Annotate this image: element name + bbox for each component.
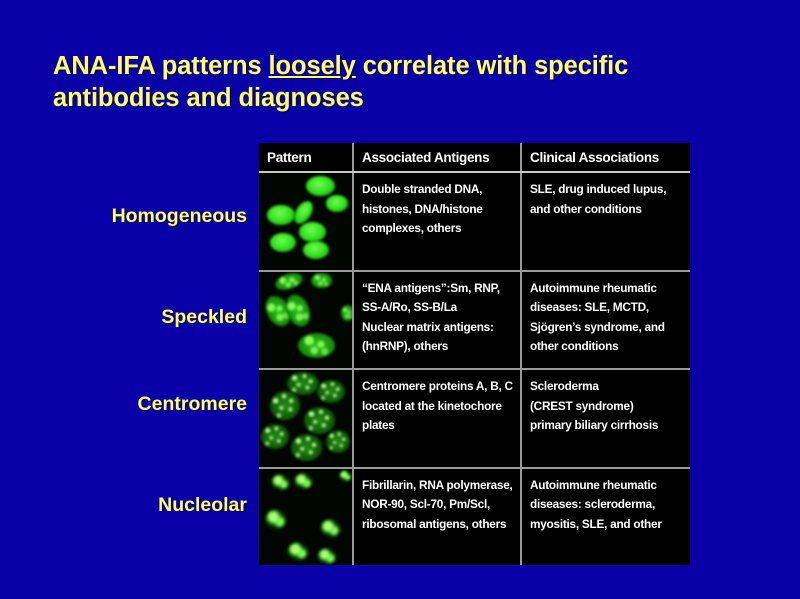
column-header-pattern: Pattern [259, 143, 352, 171]
table-header-row: Pattern Associated Antigens Clinical Ass… [259, 143, 690, 173]
clinical-cell: Autoimmune rheumatic diseases: scleroder… [520, 469, 690, 566]
speckled-pattern-image [259, 272, 352, 369]
cell-nucleus [320, 519, 340, 538]
cell-nucleus [261, 424, 289, 449]
antigens-cell: Double stranded DNA, histones, DNA/histo… [352, 173, 520, 270]
micrograph-centromere [259, 370, 352, 467]
antigens-cell: “ENA antigens”:Sm, RNP, SS-A/Ro, SS-B/La… [352, 272, 520, 369]
antigens-cell: Centromere proteins A, B, C located at t… [352, 370, 520, 467]
column-header-clinical-associations: Clinical Associations [520, 143, 690, 171]
micrograph-homogeneous [259, 173, 352, 270]
cell-nucleus [311, 273, 331, 287]
cell-nucleus [294, 473, 313, 489]
page-title: ANA-IFA patterns loosely correlate with … [53, 50, 753, 114]
centromere-pattern-image [259, 370, 352, 467]
cell-nucleus [271, 474, 290, 490]
table-row: Fibrillarin, RNA polymerase, NOR-90, Scl… [259, 469, 690, 566]
micrograph-speckled [259, 272, 352, 369]
cell-nucleus [326, 195, 348, 211]
cell-nucleus [326, 430, 350, 453]
clinical-cell: Scleroderma (CREST syndrome) primary bil… [520, 370, 690, 467]
title-emphasis-loosely: loosely [269, 52, 356, 80]
cell-nucleus [291, 434, 323, 461]
pattern-label-centromere: Centromere [0, 393, 247, 416]
table-row: Centromere proteins A, B, C located at t… [259, 370, 690, 469]
table-row: Double stranded DNA, histones, DNA/histo… [259, 173, 690, 272]
pattern-label-nucleolar: Nucleolar [0, 494, 247, 517]
column-header-associated-antigens: Associated Antigens [352, 143, 520, 171]
cell-nucleus [341, 305, 352, 320]
cell-nucleus [299, 222, 326, 241]
cell-nucleus [303, 241, 329, 259]
pattern-label-homogeneous: Homogeneous [0, 205, 247, 228]
clinical-cell: Autoimmune rheumatic diseases: SLE, MCTD… [520, 272, 690, 369]
cell-nucleus [339, 470, 352, 482]
cell-nucleus [304, 407, 336, 434]
micrograph-nucleolar [259, 469, 352, 566]
homogeneous-pattern-image [259, 173, 352, 270]
nucleolar-pattern-image [259, 469, 352, 566]
ana-pattern-table: Pattern Associated Antigens Clinical Ass… [259, 143, 690, 565]
title-segment-1: ANA-IFA patterns [53, 52, 269, 80]
cell-nucleus [317, 548, 337, 565]
pattern-label-speckled: Speckled [0, 306, 247, 329]
cell-nucleus [265, 509, 287, 530]
table-row: “ENA antigens”:Sm, RNP, SS-A/Ro, SS-B/La… [259, 272, 690, 371]
antigens-cell: Fibrillarin, RNA polymerase, NOR-90, Scl… [352, 469, 520, 566]
clinical-cell: SLE, drug induced lupus, and other condi… [520, 173, 690, 270]
cell-nucleus [317, 380, 345, 403]
